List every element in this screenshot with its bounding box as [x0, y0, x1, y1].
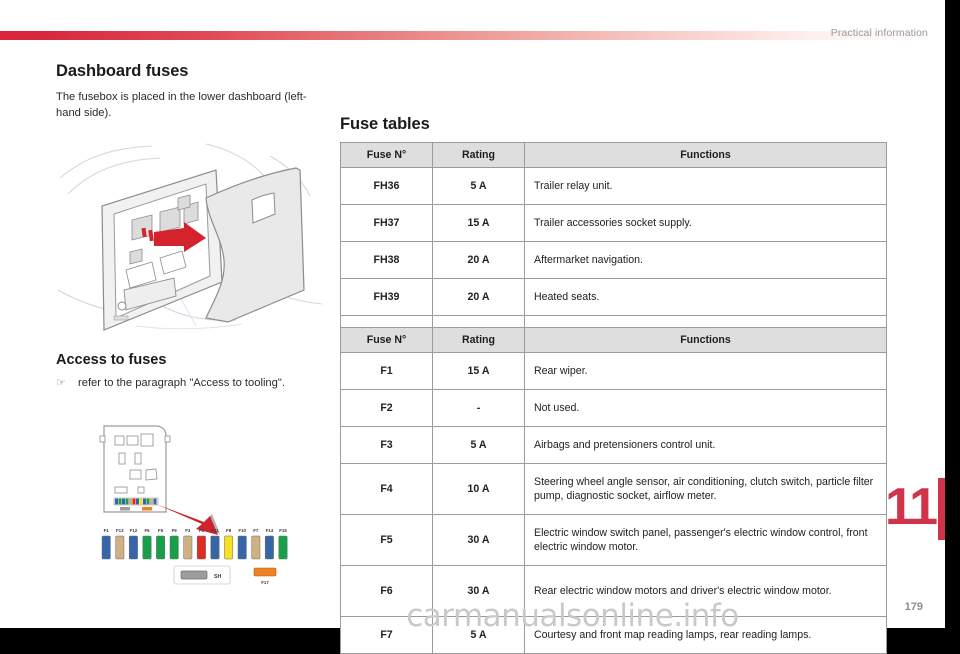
cell-fuse-number: FH37: [341, 205, 433, 242]
column-header-functions: Functions: [525, 328, 887, 353]
fuse-block-label: F8: [226, 528, 232, 533]
fuse-block-label: F10: [238, 528, 246, 533]
fuse-block: [252, 536, 260, 559]
cell-rating: -: [433, 390, 525, 427]
fuse-block: [197, 536, 205, 559]
fuse-block: [224, 536, 232, 559]
fuse-block-label: F5: [158, 528, 164, 533]
table-header-row: Fuse N° Rating Functions: [341, 328, 887, 353]
table-row: FH3820 AAftermarket navigation.: [341, 242, 887, 279]
cell-functions: Airbags and pretensioners control unit.: [525, 427, 887, 464]
fuse-block-label: F4: [199, 528, 205, 533]
table-header-row: Fuse N° Rating Functions: [341, 143, 887, 168]
fuse-block: [116, 536, 124, 559]
cell-fuse-number: F2: [341, 390, 433, 427]
fuse-block: [265, 536, 273, 559]
cell-fuse-number: F3: [341, 427, 433, 464]
intro-paragraph: The fusebox is placed in the lower dashb…: [56, 90, 324, 121]
fuse-block-label: F11: [211, 528, 219, 533]
fuse-block-label: F3: [185, 528, 191, 533]
dashboard-fusebox-illustration: [56, 140, 324, 336]
cell-fuse-number: F4: [341, 464, 433, 515]
table-row: F2-Not used.: [341, 390, 887, 427]
cell-functions: Steering wheel angle sensor, air conditi…: [525, 464, 887, 515]
cell-functions: Trailer accessories socket supply.: [525, 205, 887, 242]
column-header-functions: Functions: [525, 143, 887, 168]
cell-rating: 5 A: [433, 427, 525, 464]
cell-functions: Heated seats.: [525, 279, 887, 316]
shunt-label: SH: [214, 574, 221, 580]
chapter-accent-bar: [938, 478, 945, 540]
fuse-block-label: F12: [130, 528, 138, 533]
table-row: F115 ARear wiper.: [341, 353, 887, 390]
cell-rating: 20 A: [433, 279, 525, 316]
cell-rating: 15 A: [433, 353, 525, 390]
access-to-fuses-bullet: ☞ refer to the paragraph "Access to tool…: [56, 376, 346, 389]
column-header-rating: Rating: [433, 143, 525, 168]
access-to-fuses-bullet-text: refer to the paragraph "Access to toolin…: [78, 377, 285, 389]
pointing-hand-icon: ☞: [56, 376, 78, 389]
fuse-block: [211, 536, 219, 559]
fuse-block: [170, 536, 178, 559]
fuse-block-label: F6: [144, 528, 150, 533]
watermark: carmanualsonline.info: [0, 598, 945, 634]
fuse-block: [102, 536, 110, 559]
fuse-block: [238, 536, 246, 559]
fuse-block: [143, 536, 151, 559]
cell-functions: Electric window switch panel, passenger'…: [525, 515, 887, 566]
fuse-block-label: F15: [279, 528, 287, 533]
header-red-rule: [0, 31, 945, 40]
fuse-block-label: F7: [253, 528, 259, 533]
running-header-title: Practical information: [831, 27, 928, 39]
cell-fuse-number: FH38: [341, 242, 433, 279]
cell-rating: 10 A: [433, 464, 525, 515]
cell-rating: 5 A: [433, 168, 525, 205]
cell-fuse-number: FH36: [341, 168, 433, 205]
fuse-tables-heading: Fuse tables: [340, 115, 430, 134]
table-row: F410 ASteering wheel angle sensor, air c…: [341, 464, 887, 515]
table-row: FH365 ATrailer relay unit.: [341, 168, 887, 205]
access-to-fuses-heading: Access to fuses: [56, 352, 166, 368]
fuse-block: [279, 536, 287, 559]
column-header-rating: Rating: [433, 328, 525, 353]
fuse-block-label: F14: [266, 528, 274, 533]
left-column: Dashboard fuses The fusebox is placed in…: [56, 62, 324, 121]
table-row: F530 AElectric window switch panel, pass…: [341, 515, 887, 566]
table-row: FH3920 AHeated seats.: [341, 279, 887, 316]
cell-functions: Aftermarket navigation.: [525, 242, 887, 279]
fusebox-layout-illustration: F1F13F12F6F5F9F3F4F11F8F10F7F14F15 SH F1…: [86, 408, 324, 600]
cell-rating: 15 A: [433, 205, 525, 242]
cell-fuse-number: F1: [341, 353, 433, 390]
cell-fuse-number: FH39: [341, 279, 433, 316]
cell-functions: Trailer relay unit.: [525, 168, 887, 205]
f17-label: F17: [261, 580, 269, 585]
cell-rating: 20 A: [433, 242, 525, 279]
cell-fuse-number: F5: [341, 515, 433, 566]
fuse-table-fh: Fuse N° Rating Functions FH365 ATrailer …: [340, 142, 887, 353]
table-row: FH3715 ATrailer accessories socket suppl…: [341, 205, 887, 242]
fuse-block-label: F13: [116, 528, 124, 533]
fuse-block: [156, 536, 164, 559]
column-header-fuse-no: Fuse N°: [341, 328, 433, 353]
fuse-block: [184, 536, 192, 559]
fuse-block: [129, 536, 137, 559]
fuse-block-label: F9: [172, 528, 178, 533]
column-header-fuse-no: Fuse N°: [341, 143, 433, 168]
table-row: F35 AAirbags and pretensioners control u…: [341, 427, 887, 464]
fuse-block-label: F1: [104, 528, 110, 533]
chapter-number: 11: [885, 481, 936, 533]
cell-functions: Not used.: [525, 390, 887, 427]
manual-page: Practical information Dashboard fuses Th…: [0, 0, 945, 628]
cell-functions: Rear wiper.: [525, 353, 887, 390]
cell-rating: 30 A: [433, 515, 525, 566]
page-title: Dashboard fuses: [56, 62, 324, 81]
